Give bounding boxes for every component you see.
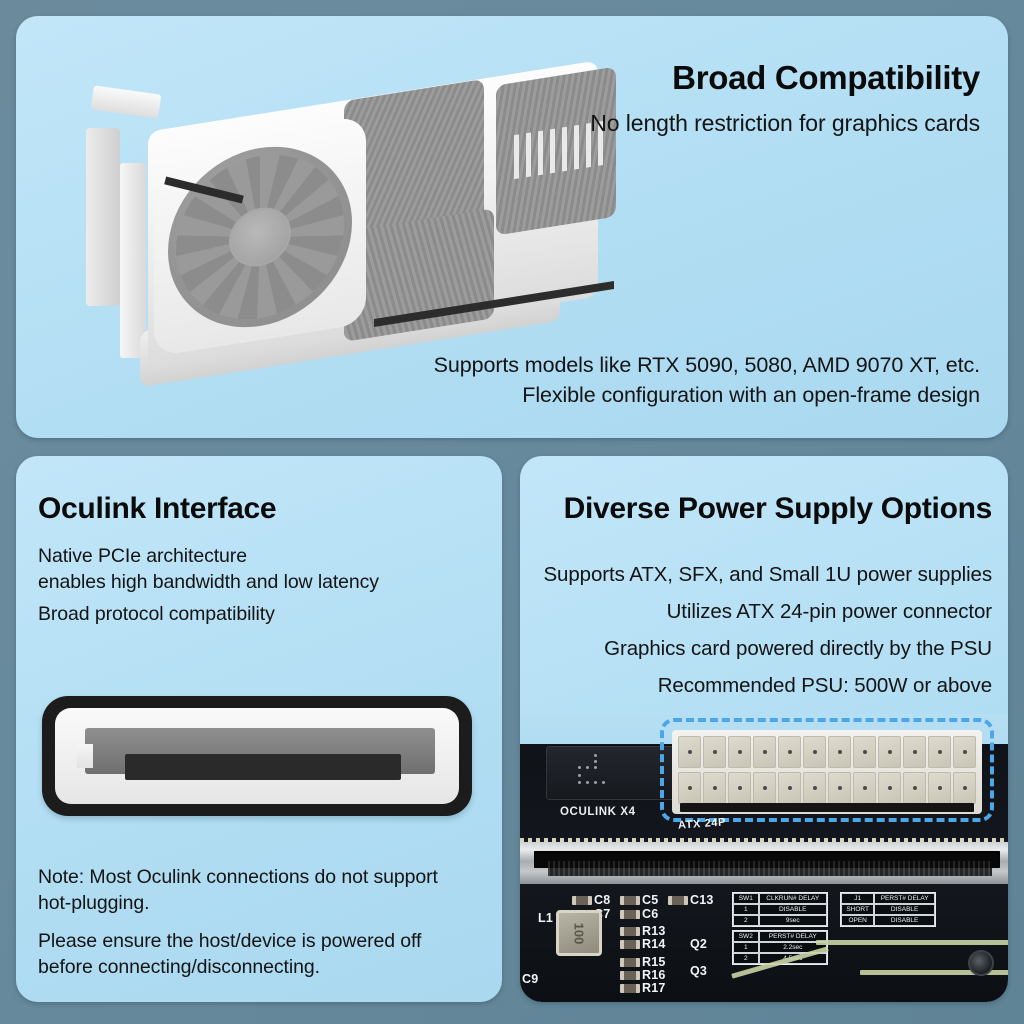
oculink-paragraph-1: Native PCIe architecture enables high ba… <box>38 543 478 595</box>
switch-table-j1: J1PERST# DELAY SHORTDISABLE OPENDISABLE <box>840 892 936 927</box>
oculink-note-2: Please ensure the host/device is powered… <box>38 928 488 980</box>
sw-row-cell: 2 <box>733 915 759 926</box>
oculink-note-line: hot-plugging. <box>38 890 488 916</box>
pcie-slot-contacts <box>548 861 992 876</box>
power-bullet: Recommended PSU: 500W or above <box>540 667 992 704</box>
bracket-plate-mid <box>120 163 146 358</box>
component-label: C8 <box>594 893 610 907</box>
oculink-paragraph-2: Broad protocol compatibility <box>38 601 478 627</box>
component-label: R17 <box>642 981 666 995</box>
smd-capacitor <box>572 896 592 905</box>
component-label: C6 <box>642 907 658 921</box>
oculink-paragraph-line: enables high bandwidth and low latency <box>38 569 478 595</box>
component-label: R16 <box>642 968 666 982</box>
compatibility-footer-block: Supports models like RTX 5090, 5080, AMD… <box>390 350 980 410</box>
oculink-x4-silkscreen-label: OCULINK X4 <box>560 806 636 818</box>
connector-inner-body <box>55 708 459 804</box>
sw-header-cell: SW2 <box>733 931 759 942</box>
connector-contact-blade <box>125 754 401 780</box>
sw-row-cell: 2 <box>733 953 759 964</box>
mounting-hole <box>968 950 994 976</box>
panel-oculink-interface: Oculink Interface Native PCIe architectu… <box>16 456 502 1002</box>
compatibility-subtitle: No length restriction for graphics cards <box>420 106 980 140</box>
component-label: Q3 <box>690 964 707 978</box>
component-label: C5 <box>642 893 658 907</box>
panel-power-supply-options: Diverse Power Supply Options Supports AT… <box>520 456 1008 1002</box>
smd-capacitor <box>668 896 688 905</box>
power-bullet: Graphics card powered directly by the PS… <box>540 630 992 667</box>
smd-resistor <box>620 927 640 936</box>
oculink-paragraph-line: Broad protocol compatibility <box>38 601 478 627</box>
component-label: R13 <box>642 924 666 938</box>
sw-header-cell: SW1 <box>733 893 759 904</box>
sw-row-cell: 1 <box>733 904 759 915</box>
sw-row-cell: DISABLE <box>874 915 935 926</box>
component-label: C13 <box>690 893 714 907</box>
sw-row-cell: DISABLE <box>874 904 935 915</box>
page-title: Broad Compatibility <box>420 58 980 98</box>
sw-row-cell: 9sec <box>759 915 827 926</box>
connector-keying-notch <box>77 744 93 768</box>
sw-row-cell: 1 <box>733 942 759 953</box>
atx-highlight-box <box>660 718 994 822</box>
smd-resistor <box>620 984 640 993</box>
connector-outer-shell <box>42 696 472 816</box>
sw-row-cell: SHORT <box>841 904 874 915</box>
power-title: Diverse Power Supply Options <box>564 490 992 528</box>
power-inductor: 100 <box>556 910 602 956</box>
component-label: R14 <box>642 937 666 951</box>
power-bullet-list: Supports ATX, SFX, and Small 1U power su… <box>540 556 992 704</box>
sw-header-cell: CLKRUN# DELAY <box>759 893 827 904</box>
component-label: L1 <box>538 911 553 925</box>
smd-resistor <box>620 940 640 949</box>
pcb-trace <box>816 940 1008 945</box>
panel-broad-compatibility: Broad Compatibility No length restrictio… <box>16 16 1008 438</box>
oculink-title: Oculink Interface <box>38 490 276 528</box>
component-label: C9 <box>522 972 538 986</box>
bracket-tab-top <box>91 85 162 118</box>
smd-resistor <box>620 958 640 967</box>
component-label: R15 <box>642 955 666 969</box>
switch-table-sw1: SW1CLKRUN# DELAY 1DISABLE 29sec <box>732 892 828 927</box>
sw-header-cell: J1 <box>841 893 874 904</box>
component-label: Q2 <box>690 937 707 951</box>
compatibility-footer-line: Supports models like RTX 5090, 5080, AMD… <box>390 350 980 380</box>
sw-row-cell: OPEN <box>841 915 874 926</box>
smd-capacitor <box>620 910 640 919</box>
oculink-note-line: Please ensure the host/device is powered… <box>38 928 488 954</box>
pcie-x16-slot <box>520 842 1008 884</box>
oculink-connector-illustration <box>42 696 472 816</box>
sw-row-cell: DISABLE <box>759 904 827 915</box>
compatibility-text-block: Broad Compatibility No length restrictio… <box>420 58 980 140</box>
smd-capacitor <box>620 896 640 905</box>
bracket-plate-rear <box>86 128 120 306</box>
silkscreen-dot-pattern <box>568 754 618 792</box>
oculink-note-line: before connecting/disconnecting. <box>38 954 488 980</box>
oculink-note-line: Note: Most Oculink connections do not su… <box>38 864 488 890</box>
pcb-photo: OCULINK X4 <box>520 714 1008 1002</box>
oculink-paragraph-line: Native PCIe architecture <box>38 543 478 569</box>
connector-cavity <box>85 728 435 774</box>
pcie-slot-groove <box>534 851 1000 868</box>
compatibility-footer-line: Flexible configuration with an open-fram… <box>390 380 980 410</box>
power-bullet: Utilizes ATX 24-pin power connector <box>540 593 992 630</box>
inductor-value: 100 <box>571 922 586 944</box>
sw-header-cell: PERST# DELAY <box>874 893 935 904</box>
smd-resistor <box>620 971 640 980</box>
board-silkscreen-text <box>542 980 550 1002</box>
power-bullet: Supports ATX, SFX, and Small 1U power su… <box>540 556 992 593</box>
oculink-note-1: Note: Most Oculink connections do not su… <box>38 864 488 916</box>
